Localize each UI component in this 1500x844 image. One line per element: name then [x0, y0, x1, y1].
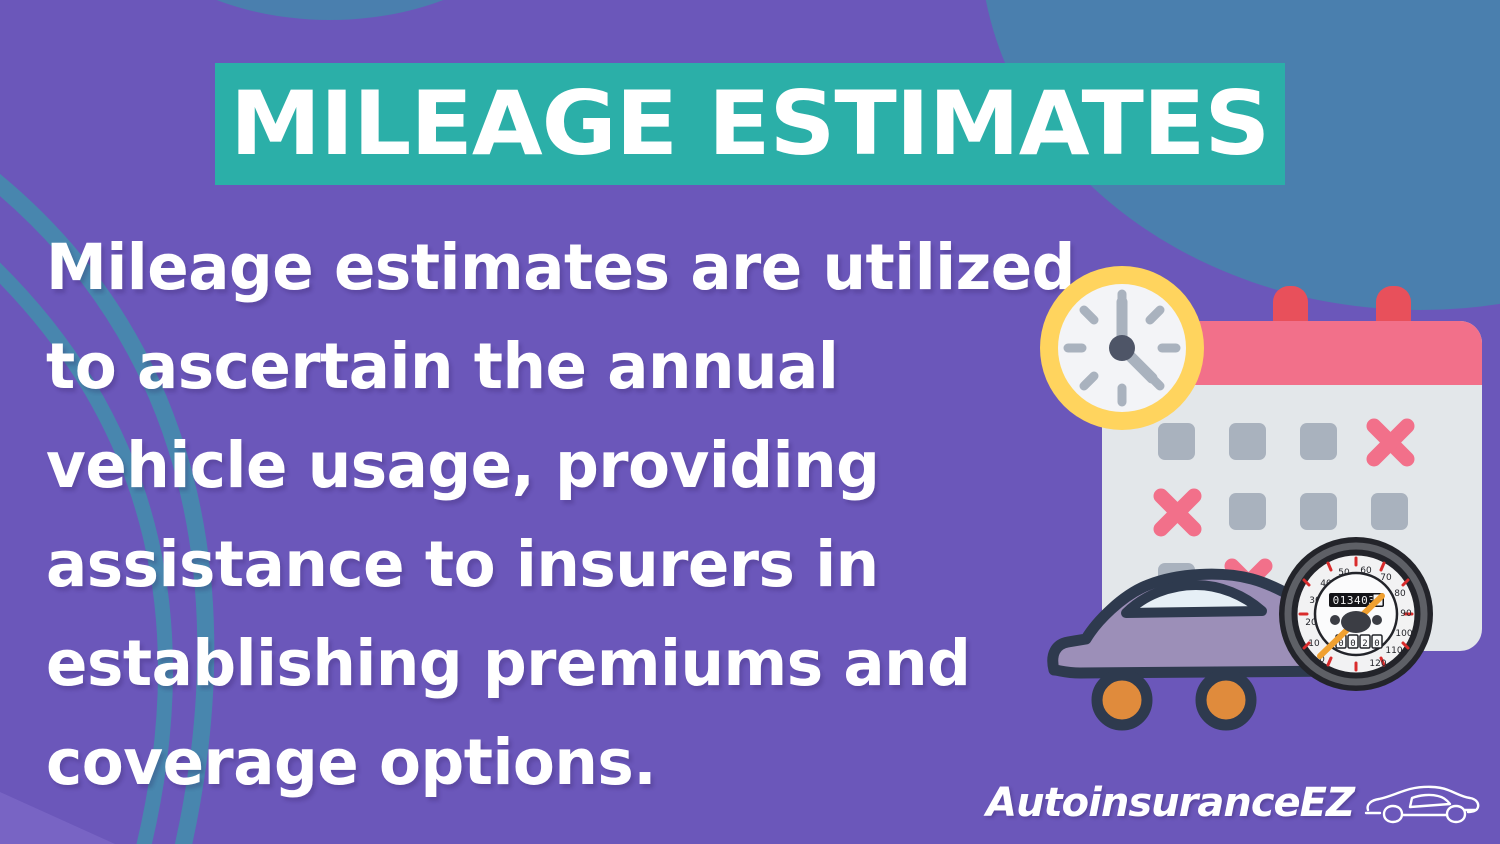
car-wheel: [1201, 675, 1251, 725]
svg-text:120: 120: [1369, 659, 1386, 669]
svg-text:90: 90: [1400, 609, 1412, 619]
body-line: Mileage estimates are utilized: [46, 218, 1045, 317]
calendar-cell: [1300, 423, 1337, 460]
speedometer-indicator-lamp: [1330, 615, 1340, 625]
body-line: coverage options.: [46, 713, 1045, 812]
calendar-cell: [1158, 423, 1195, 460]
brand-wordmark: AutoinsuranceEZ: [986, 783, 1354, 823]
calendar-cell: [1229, 493, 1266, 530]
svg-text:110: 110: [1385, 646, 1402, 656]
speedometer-icon: 0 10 20 30 40 50 60 70 80 90 100 110 120: [1279, 537, 1433, 691]
calendar-cell: [1371, 493, 1408, 530]
body-line: vehicle usage, providing: [46, 416, 1045, 515]
svg-text:0: 0: [1374, 639, 1379, 649]
calendar-cell: [1300, 493, 1337, 530]
svg-text:0: 0: [1350, 639, 1355, 649]
speedometer-indicator-lamp: [1372, 615, 1382, 625]
top-left-blue-ellipse: [110, 0, 550, 20]
body-line: assistance to insurers in: [46, 515, 1045, 614]
svg-text:80: 80: [1394, 589, 1406, 599]
car-wheel: [1097, 675, 1147, 725]
speedometer-needle-hub: [1341, 611, 1371, 633]
page-title: MILEAGE ESTIMATES: [230, 80, 1269, 168]
body-line: to ascertain the annual: [46, 317, 1045, 416]
sports-car-outline-icon: [1362, 780, 1482, 826]
calendar-cell: [1229, 423, 1266, 460]
body-copy-block: Mileage estimates are utilized to ascert…: [46, 218, 1076, 812]
brand-logo[interactable]: AutoinsuranceEZ: [986, 780, 1482, 826]
clock-hub: [1109, 335, 1135, 361]
wall-clock-icon: [1040, 266, 1204, 430]
illustration-cluster: 0 10 20 30 40 50 60 70 80 90 100 110 120: [1030, 258, 1500, 738]
svg-text:100: 100: [1395, 629, 1412, 639]
poster-canvas: MILEAGE ESTIMATES Mileage estimates are …: [0, 0, 1500, 844]
body-line: establishing premiums and: [46, 614, 1045, 713]
title-banner: MILEAGE ESTIMATES: [215, 63, 1285, 185]
illustration-svg: 0 10 20 30 40 50 60 70 80 90 100 110 120: [1030, 258, 1500, 738]
svg-text:10: 10: [1308, 639, 1320, 649]
svg-text:2: 2: [1362, 639, 1367, 649]
